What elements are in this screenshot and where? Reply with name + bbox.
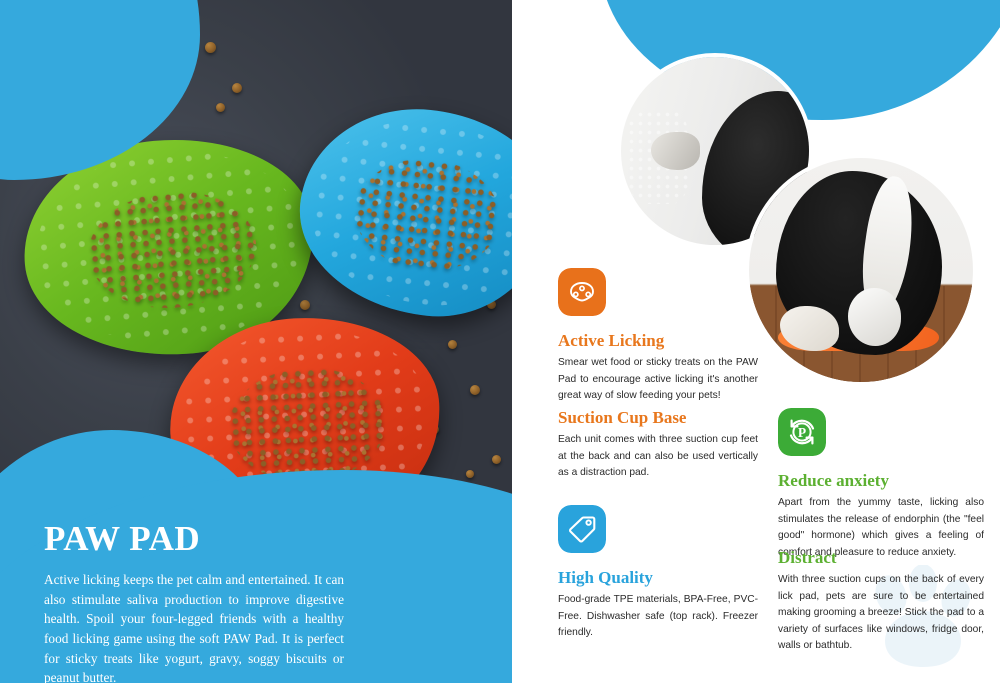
feature-body: Each unit comes with three suction cup f…	[558, 432, 758, 482]
feature-body: Smear wet food or sticky treats on the P…	[558, 355, 758, 405]
kibble-piece	[205, 42, 216, 53]
feature-title: High Quality	[558, 568, 758, 588]
kibble-piece	[466, 470, 474, 478]
collie-muzzle	[848, 288, 902, 346]
lick-pad-suction-icon	[558, 268, 606, 316]
feature-distract: Distract With three suction cups on the …	[778, 548, 984, 655]
kibble-piece	[448, 340, 457, 349]
feature-title: Active Licking	[558, 331, 758, 351]
page-title: PAW PAD	[44, 521, 344, 556]
feature-reduce-anxiety: P Reduce anxiety Apart from the yummy ta…	[778, 408, 984, 561]
price-tag-icon	[558, 505, 606, 553]
right-panel: Active Licking Smear wet food or sticky …	[512, 0, 1000, 683]
feature-suction-cup-base: Suction Cup Base Each unit comes with th…	[558, 408, 758, 482]
blue-lick-mat	[290, 97, 512, 327]
feature-title: Reduce anxiety	[778, 471, 984, 491]
dog-snout	[651, 132, 700, 170]
product-description: Active licking keeps the pet calm and en…	[44, 570, 344, 683]
kibble-piece	[470, 385, 480, 395]
border-collie-licking-orange-pad	[745, 154, 977, 386]
kibble-piece	[232, 83, 242, 93]
feature-title: Distract	[778, 548, 984, 568]
left-panel: PAW PAD Active licking keeps the pet cal…	[0, 0, 512, 683]
brochure-page: PAW PAD Active licking keeps the pet cal…	[0, 0, 1000, 683]
p-refresh-icon: P	[778, 408, 826, 456]
photo-scene	[749, 158, 973, 382]
kibble-piece	[216, 103, 225, 112]
feature-body: Food-grade TPE materials, BPA-Free, PVC-…	[558, 592, 758, 642]
feature-title: Suction Cup Base	[558, 408, 758, 428]
feature-body: With three suction cups on the back of e…	[778, 572, 984, 655]
kibble-piece	[492, 455, 501, 464]
feature-high-quality: High Quality Food-grade TPE materials, B…	[558, 505, 758, 642]
feature-active-licking: Active Licking Smear wet food or sticky …	[558, 268, 758, 405]
product-intro-block: PAW PAD Active licking keeps the pet cal…	[44, 521, 344, 683]
svg-text:P: P	[798, 425, 806, 440]
